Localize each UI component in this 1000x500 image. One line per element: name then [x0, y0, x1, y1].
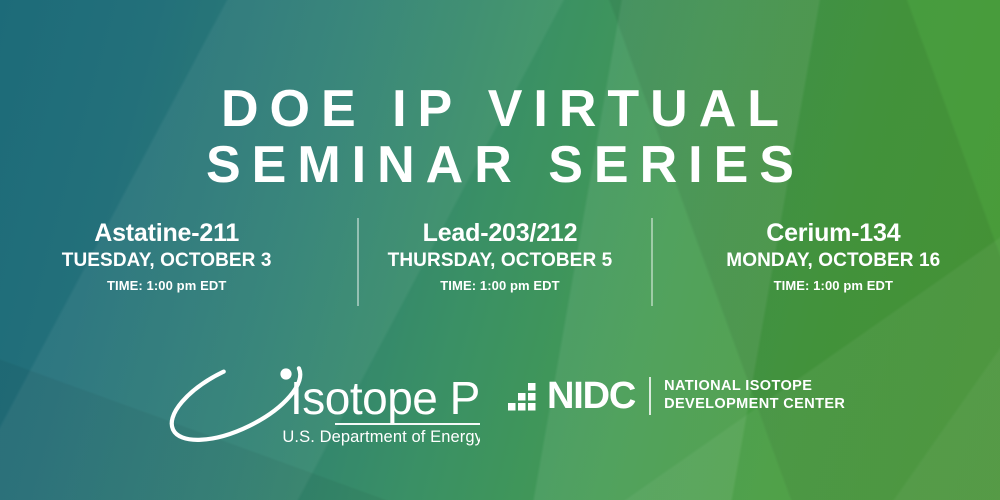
logo-row: Isotope Program U.S. Department of Energ…	[0, 348, 1000, 458]
event-isotope-name: Astatine-211	[0, 218, 333, 248]
event-time: TIME: 1:00 pm EDT	[667, 278, 1000, 294]
isotope-program-tagline: U.S. Department of Energy	[282, 428, 480, 446]
event-divider	[357, 218, 359, 306]
title-line-1: DOE IP VIRTUAL	[0, 81, 1000, 137]
nidc-subtitle-line-1: NATIONAL ISOTOPE	[664, 378, 845, 396]
isotope-program-logo: Isotope Program U.S. Department of Energ…	[150, 348, 480, 452]
nidc-divider	[649, 377, 651, 415]
atom-orbit-swoosh-icon: Isotope Program U.S. Department of Energ…	[150, 348, 480, 452]
nidc-logo: NIDC NATIONAL ISOTOPE DEVELOPMENT CENTER	[508, 374, 845, 418]
nidc-subtitle-line-2: DEVELOPMENT CENTER	[664, 396, 845, 414]
event-item-3: Cerium-134 MONDAY, OCTOBER 16 TIME: 1:00…	[667, 218, 1000, 310]
page-title: DOE IP VIRTUAL SEMINAR SERIES	[0, 81, 1000, 193]
event-divider	[651, 218, 653, 306]
seminar-banner: DOE IP VIRTUAL SEMINAR SERIES Astatine-2…	[0, 0, 1000, 500]
banner-content: DOE IP VIRTUAL SEMINAR SERIES Astatine-2…	[0, 0, 1000, 500]
nidc-subtitle: NATIONAL ISOTOPE DEVELOPMENT CENTER	[664, 378, 845, 413]
title-line-2: SEMINAR SERIES	[0, 137, 1000, 193]
event-time: TIME: 1:00 pm EDT	[0, 278, 333, 294]
nidc-wordmark: NIDC	[547, 377, 635, 415]
event-isotope-name: Lead-203/212	[333, 218, 666, 248]
pixel-staircase-icon	[508, 381, 540, 411]
event-date: TUESDAY, OCTOBER 3	[0, 250, 333, 273]
event-time: TIME: 1:00 pm EDT	[333, 278, 666, 294]
event-item-2: Lead-203/212 THURSDAY, OCTOBER 5 TIME: 1…	[333, 218, 666, 310]
event-list: Astatine-211 TUESDAY, OCTOBER 3 TIME: 1:…	[0, 218, 1000, 310]
event-date: MONDAY, OCTOBER 16	[667, 250, 1000, 273]
isotope-program-wordmark: Isotope Program	[290, 372, 480, 424]
event-item-1: Astatine-211 TUESDAY, OCTOBER 3 TIME: 1:…	[0, 218, 333, 310]
event-isotope-name: Cerium-134	[667, 218, 1000, 248]
logo-divider-rule	[335, 423, 480, 425]
event-date: THURSDAY, OCTOBER 5	[333, 250, 666, 273]
